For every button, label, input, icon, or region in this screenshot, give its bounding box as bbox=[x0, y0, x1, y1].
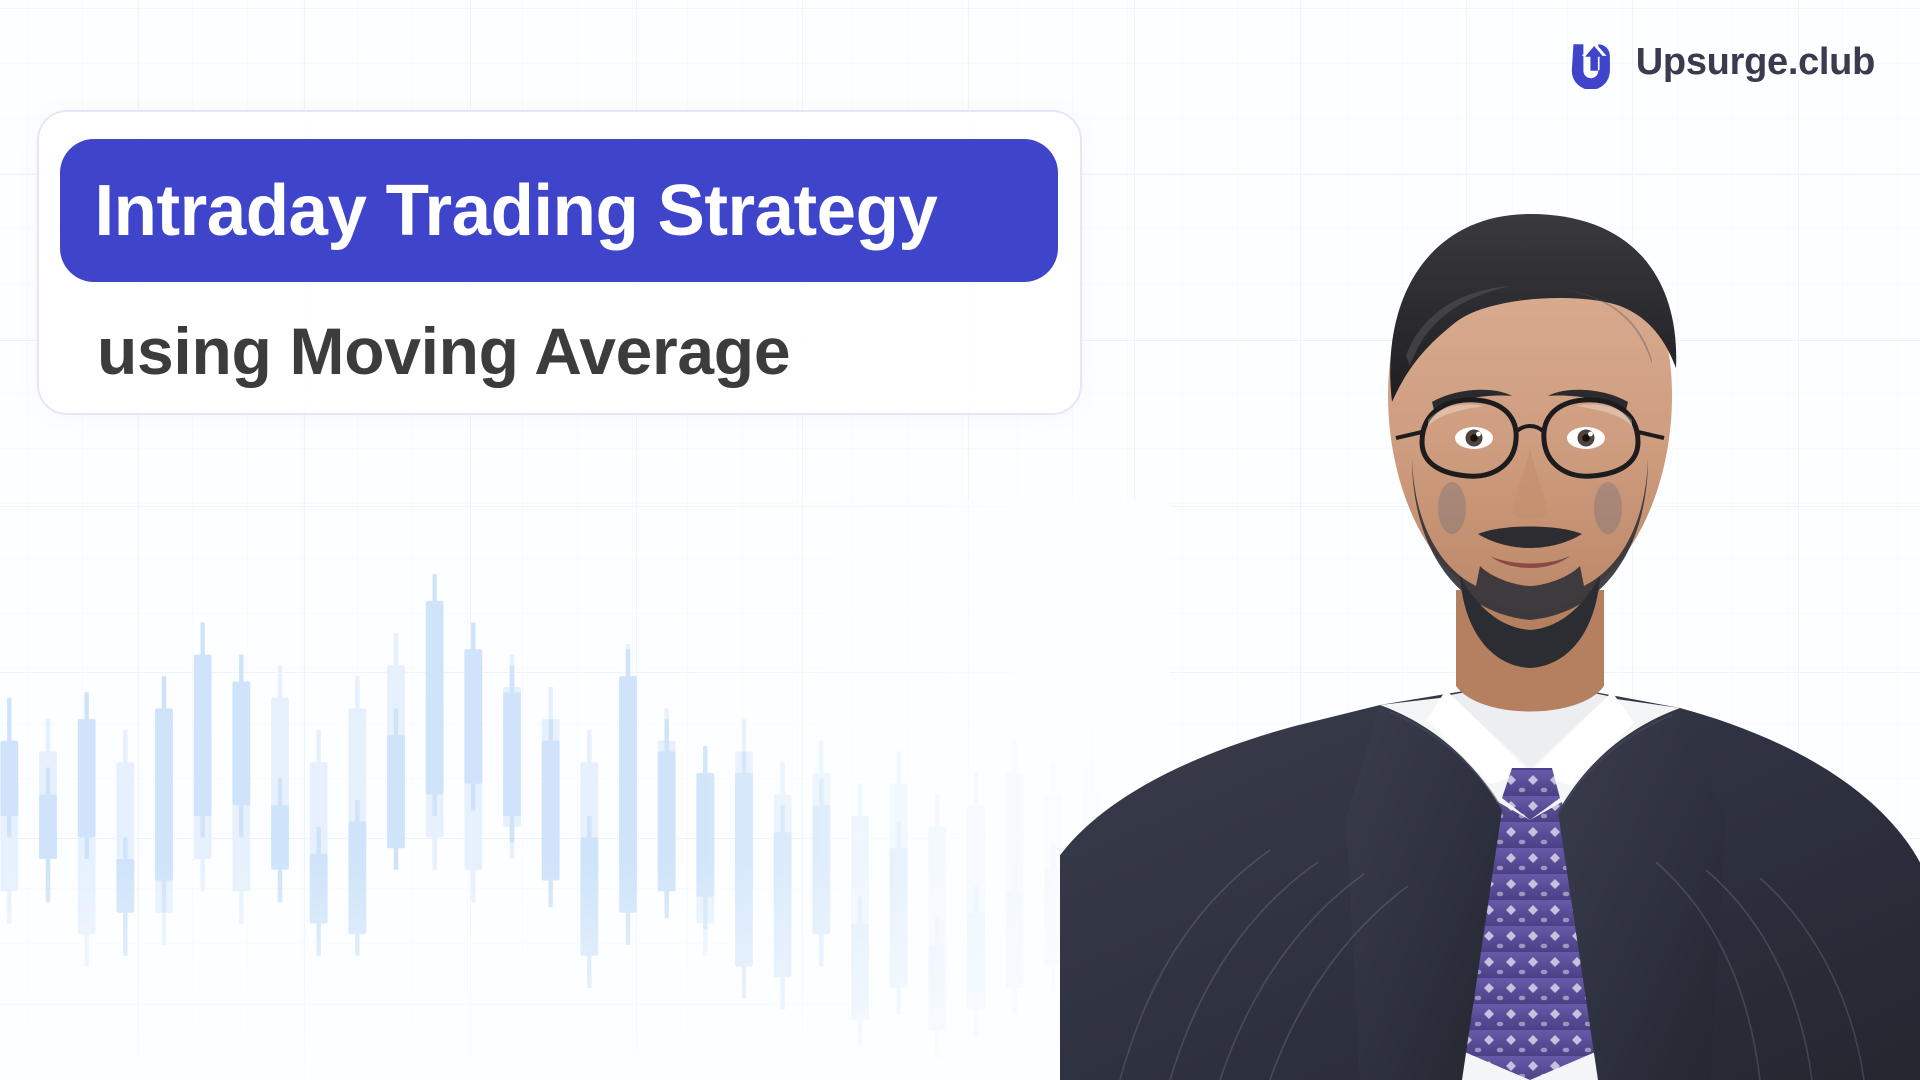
candle-body bbox=[503, 692, 521, 816]
candle-body bbox=[426, 601, 444, 795]
title-badge-label: Intraday Trading Strategy bbox=[60, 170, 937, 252]
candle-body bbox=[890, 848, 908, 988]
candle-body bbox=[967, 913, 985, 1010]
candle-body bbox=[78, 719, 96, 837]
candle-body bbox=[348, 821, 366, 934]
upsurge-u-arrow-logo-icon bbox=[1566, 36, 1619, 89]
candle-body bbox=[580, 837, 598, 955]
candle-body bbox=[116, 859, 134, 913]
candle-body bbox=[658, 751, 676, 891]
thumbnail-canvas: Intraday Trading Strategy using Moving A… bbox=[0, 0, 1920, 1080]
candle-body bbox=[774, 832, 792, 977]
candle-body bbox=[735, 773, 753, 967]
candlestick-chart bbox=[0, 520, 1150, 1080]
candle-body bbox=[696, 773, 714, 897]
candle-body bbox=[310, 854, 328, 924]
presenter-photo bbox=[1060, 120, 1920, 1080]
title-badge: Intraday Trading Strategy bbox=[60, 139, 1058, 282]
candle-body bbox=[232, 682, 250, 806]
candle-body bbox=[1006, 891, 1024, 988]
candle-body bbox=[464, 649, 482, 783]
candle-body bbox=[619, 676, 637, 913]
candle-body bbox=[387, 735, 405, 848]
presenter-illustration bbox=[1060, 120, 1920, 1080]
brand-name-label: Upsurge.club bbox=[1636, 41, 1875, 84]
candle-body bbox=[851, 923, 869, 1020]
candle-body bbox=[155, 708, 173, 880]
candle-body bbox=[542, 741, 560, 881]
candlestick-chart-svg bbox=[0, 520, 1150, 1080]
subtitle-text: using Moving Average bbox=[97, 313, 790, 389]
candle-body bbox=[0, 741, 18, 816]
candle-body bbox=[194, 655, 212, 816]
candle-body bbox=[271, 805, 289, 870]
candle-body bbox=[39, 794, 57, 859]
candle-body bbox=[812, 805, 830, 934]
candle-body bbox=[928, 945, 946, 1031]
brand-lockup[interactable]: Upsurge.club bbox=[1566, 36, 1875, 89]
